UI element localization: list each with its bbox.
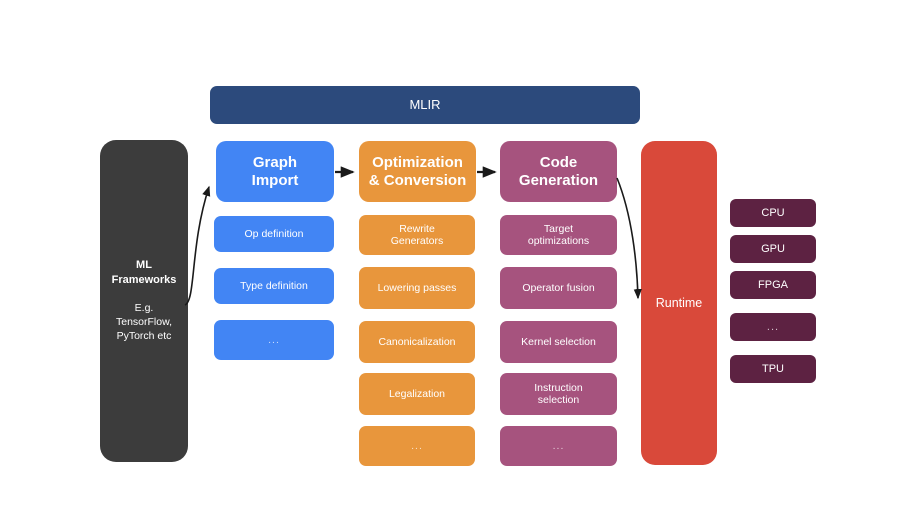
item-op-definition: Op definition: [214, 216, 334, 252]
item-code-generation-more-label: ...: [553, 440, 565, 452]
item-optimization-more-label: ...: [411, 440, 423, 452]
hardware-target-gpu: GPU: [730, 235, 816, 263]
item-type-definition-label: Type definition: [240, 280, 308, 292]
arrow-frameworks-to-graph-import: [185, 187, 209, 305]
item-instruction-selection-label: Instruction selection: [534, 382, 582, 407]
hardware-target-tpu: TPU: [730, 355, 816, 383]
item-graph-import-more: ...: [214, 320, 334, 360]
stage-header-optimization-conversion: Optimization & Conversion: [359, 141, 476, 202]
stage-header-code-generation: Code Generation: [500, 141, 617, 202]
mlir-banner-label: MLIR: [409, 97, 440, 112]
item-legalization: Legalization: [359, 373, 475, 415]
item-rewrite-generators: Rewrite Generators: [359, 215, 475, 255]
hardware-target-tpu-label: TPU: [762, 363, 784, 376]
item-optimization-more: ...: [359, 426, 475, 466]
hardware-target-fpga-label: FPGA: [758, 279, 788, 292]
hardware-target-gpu-label: GPU: [761, 243, 785, 256]
item-op-definition-label: Op definition: [245, 228, 304, 240]
item-type-definition: Type definition: [214, 268, 334, 304]
ml-frameworks-block: ML Frameworks E.g. TensorFlow, PyTorch e…: [100, 140, 188, 462]
stage-header-graph-import: Graph Import: [216, 141, 334, 202]
item-kernel-selection: Kernel selection: [500, 321, 617, 363]
mlir-banner: MLIR: [210, 86, 640, 124]
item-canonicalization: Canonicalization: [359, 321, 475, 363]
item-target-optimizations-label: Target optimizations: [528, 223, 589, 248]
item-graph-import-more-label: ...: [268, 334, 280, 346]
item-code-generation-more: ...: [500, 426, 617, 466]
item-kernel-selection-label: Kernel selection: [521, 336, 596, 348]
ml-frameworks-subtitle: E.g. TensorFlow, PyTorch etc: [116, 301, 172, 344]
item-lowering-passes-label: Lowering passes: [378, 282, 457, 294]
hardware-target-cpu: CPU: [730, 199, 816, 227]
stage-header-graph-import-label: Graph Import: [252, 154, 299, 189]
item-operator-fusion: Operator fusion: [500, 267, 617, 309]
stage-header-optimization-conversion-label: Optimization & Conversion: [369, 154, 467, 189]
hardware-target-cpu-label: CPU: [761, 207, 784, 220]
runtime-block: Runtime: [641, 141, 717, 465]
hardware-target-more-label: ...: [767, 321, 779, 334]
item-canonicalization-label: Canonicalization: [378, 336, 455, 348]
item-operator-fusion-label: Operator fusion: [522, 282, 594, 294]
stage-header-code-generation-label: Code Generation: [519, 154, 598, 189]
hardware-target-fpga: FPGA: [730, 271, 816, 299]
ml-frameworks-title: ML Frameworks: [112, 258, 177, 287]
runtime-label: Runtime: [656, 296, 703, 311]
item-legalization-label: Legalization: [389, 388, 445, 400]
item-rewrite-generators-label: Rewrite Generators: [391, 223, 444, 248]
hardware-target-more: ...: [730, 313, 816, 341]
item-instruction-selection: Instruction selection: [500, 373, 617, 415]
item-target-optimizations: Target optimizations: [500, 215, 617, 255]
arrow-code-generation-to-runtime: [617, 178, 638, 298]
item-lowering-passes: Lowering passes: [359, 267, 475, 309]
diagram-canvas: MLIR ML Frameworks E.g. TensorFlow, PyTo…: [0, 0, 900, 505]
